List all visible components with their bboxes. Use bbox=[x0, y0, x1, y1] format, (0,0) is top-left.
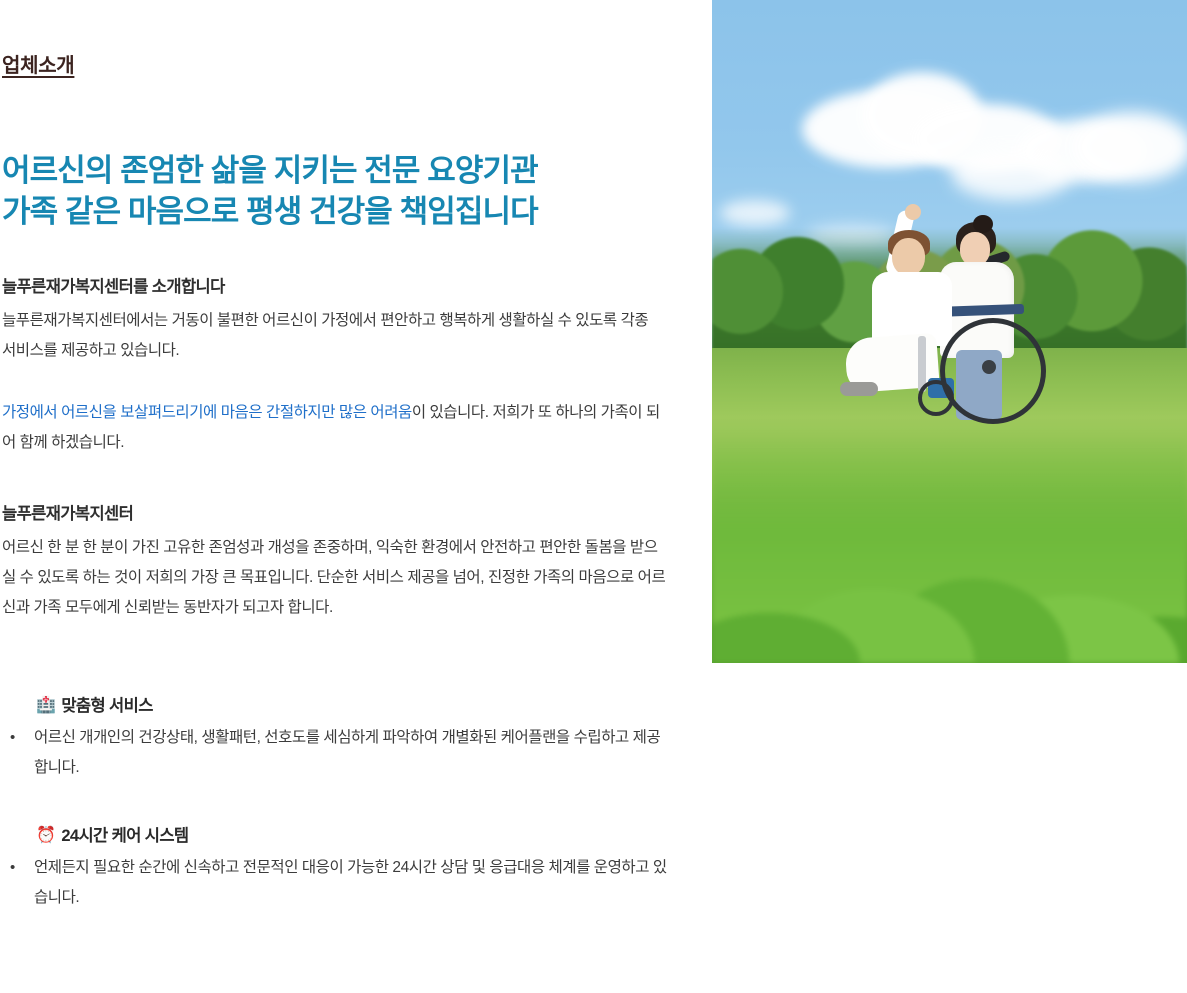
feature-1-bullet-icon: • bbox=[10, 723, 15, 753]
section-accent-paragraph: 가정에서 어르신을 보살펴드리기에 마음은 간절하지만 많은 어려움이 있습니다… bbox=[2, 398, 666, 458]
caregiver-head bbox=[960, 232, 990, 266]
page-eyebrow-label: 업체소개 bbox=[2, 54, 74, 78]
elder-shoe bbox=[840, 382, 878, 396]
feature-2-description: •언제든지 필요한 순간에 신속하고 전문적인 대응이 가능한 24시간 상담 … bbox=[2, 853, 672, 914]
hospital-icon: 🏥 bbox=[36, 698, 55, 714]
alarm-clock-icon: ⏰ bbox=[36, 828, 55, 844]
wheelchair-wheel-hub bbox=[982, 360, 996, 374]
elder-hand bbox=[905, 204, 921, 220]
feature-2-heading: 24시간 케어 시스템 bbox=[61, 824, 188, 849]
cloud-shape bbox=[720, 200, 790, 226]
cloud-shape bbox=[1072, 112, 1187, 182]
section-intro: 늘푸른재가복지센터를 소개합니다 늘푸른재가복지센터에서는 거동이 불편한 어르… bbox=[2, 276, 662, 366]
wheelchair-scene bbox=[832, 232, 1062, 452]
feature-item-24h-care: ⏰ 24시간 케어 시스템 •언제든지 필요한 순간에 신속하고 전문적인 대응… bbox=[2, 824, 672, 914]
feature-item-customized-service: 🏥 맞춤형 서비스 •어르신 개개인의 건강상태, 생활패턴, 선호도를 세심하… bbox=[2, 694, 672, 784]
feature-1-description: •어르신 개개인의 건강상태, 생활패턴, 선호도를 세심하게 파악하여 개별화… bbox=[2, 723, 672, 784]
content-column: 업체소개 어르신의 존엄한 삶을 지키는 전문 요양기관 가족 같은 마음으로 … bbox=[0, 0, 700, 993]
section-intro-heading: 늘푸른재가복지센터를 소개합니다 bbox=[2, 276, 662, 300]
feature-1-heading: 맞춤형 서비스 bbox=[61, 694, 152, 719]
feature-2-heading-row: ⏰ 24시간 케어 시스템 bbox=[36, 824, 672, 849]
page-title-line-2: 가족 같은 마음으로 평생 건강을 책임집니다 bbox=[2, 191, 538, 232]
section-mission: 늘푸른재가복지센터 어르신 한 분 한 분이 가진 고유한 존엄성과 개성을 존… bbox=[2, 503, 670, 624]
feature-2-bullet-icon: • bbox=[10, 853, 15, 883]
feature-1-text: 어르신 개개인의 건강상태, 생활패턴, 선호도를 세심하게 파악하여 개별화된… bbox=[34, 729, 660, 777]
hero-photo bbox=[712, 0, 1187, 663]
foreground-grass bbox=[712, 433, 1187, 663]
page-title: 어르신의 존엄한 삶을 지키는 전문 요양기관 가족 같은 마음으로 평생 건강… bbox=[2, 150, 538, 232]
hero-photo-canvas bbox=[712, 0, 1187, 663]
section-accent-highlight: 가정에서 어르신을 보살펴드리기에 마음은 간절하지만 많은 어려움 bbox=[2, 404, 412, 421]
page-title-line-1: 어르신의 존엄한 삶을 지키는 전문 요양기관 bbox=[2, 150, 538, 191]
cloud-shape bbox=[952, 150, 1072, 200]
elder-head bbox=[892, 238, 925, 276]
feature-1-heading-row: 🏥 맞춤형 서비스 bbox=[36, 694, 672, 719]
section-intro-body: 늘푸른재가복지센터에서는 거동이 불편한 어르신이 가정에서 편안하고 행복하게… bbox=[2, 306, 662, 366]
section-accent: 가정에서 어르신을 보살펴드리기에 마음은 간절하지만 많은 어려움이 있습니다… bbox=[2, 398, 666, 458]
section-mission-heading: 늘푸른재가복지센터 bbox=[2, 503, 670, 527]
caregiver-hair-bun bbox=[973, 215, 993, 233]
feature-2-text: 언제든지 필요한 순간에 신속하고 전문적인 대응이 가능한 24시간 상담 및… bbox=[34, 859, 667, 907]
wheelchair-front-wheel bbox=[918, 380, 954, 416]
section-mission-body: 어르신 한 분 한 분이 가진 고유한 존엄성과 개성을 존중하며, 익숙한 환… bbox=[2, 533, 670, 624]
